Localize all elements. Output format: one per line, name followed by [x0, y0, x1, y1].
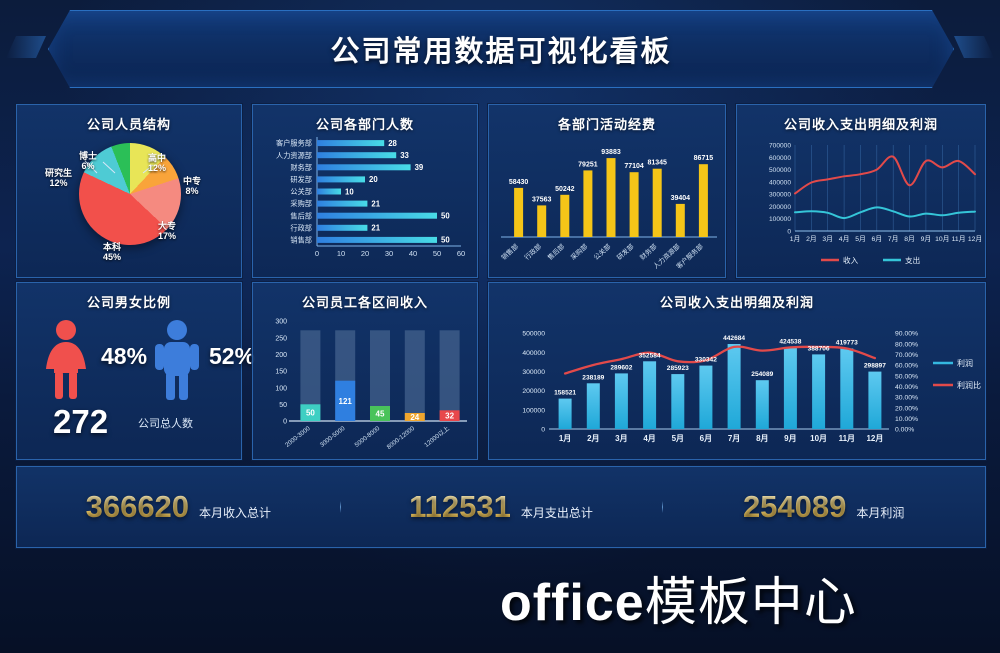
female-icon — [41, 319, 91, 401]
svg-text:0.00%: 0.00% — [895, 427, 914, 434]
pie-slice-label-yanjiusheng: 研究生 12% — [45, 168, 72, 189]
pie-slice-label-dazhuan: 大专 17% — [158, 221, 176, 242]
svg-text:0: 0 — [541, 427, 545, 434]
svg-text:12月: 12月 — [866, 434, 883, 443]
svg-text:6月: 6月 — [872, 235, 883, 243]
svg-text:销售部: 销售部 — [499, 242, 520, 262]
svg-text:客户服务部: 客户服务部 — [276, 139, 312, 148]
kpi-label: 本月支出总计 — [521, 504, 593, 521]
svg-text:12月: 12月 — [968, 235, 982, 243]
svg-text:400000: 400000 — [769, 179, 791, 186]
svg-text:研发部: 研发部 — [290, 175, 312, 184]
svg-text:2月: 2月 — [587, 434, 599, 443]
svg-text:500000: 500000 — [769, 167, 791, 174]
kpi-value: 112531 — [409, 489, 511, 525]
svg-text:5000-8000: 5000-8000 — [354, 425, 382, 449]
svg-text:3月: 3月 — [822, 235, 833, 243]
svg-text:20.00%: 20.00% — [895, 405, 918, 412]
svg-text:10: 10 — [337, 249, 345, 258]
svg-text:254089: 254089 — [751, 371, 773, 378]
pie-slice-label-boshi: 博士 6% — [79, 151, 97, 172]
svg-text:79251: 79251 — [578, 161, 598, 168]
svg-text:100000: 100000 — [522, 407, 545, 414]
combo-bars — [559, 344, 882, 429]
line-series-paths — [795, 156, 975, 218]
svg-text:5月: 5月 — [855, 235, 866, 243]
svg-text:424538: 424538 — [779, 339, 801, 346]
income-expense-line-chart: 0100000200000300000400000500000600000700… — [737, 127, 985, 275]
svg-text:100000: 100000 — [769, 216, 791, 223]
svg-text:93883: 93883 — [601, 149, 621, 156]
svg-text:289602: 289602 — [610, 364, 632, 371]
kpi-summary-strip: 366620 本月收入总计 112531 本月支出总计 254089 本月利润 — [16, 466, 986, 548]
svg-text:81345: 81345 — [647, 160, 667, 167]
svg-text:12000以上: 12000以上 — [423, 424, 451, 449]
svg-text:50: 50 — [306, 409, 315, 418]
pie-leader-lines — [17, 129, 241, 277]
svg-text:50: 50 — [441, 212, 450, 221]
svg-text:4月: 4月 — [643, 434, 655, 443]
svg-text:销售部: 销售部 — [290, 236, 312, 245]
svg-text:4月: 4月 — [839, 235, 850, 243]
svg-text:39404: 39404 — [671, 195, 691, 202]
card-staff-structure: 公司人员结构 高中 12% 中专 8% 大专 17% 本科 — [16, 104, 242, 278]
svg-text:330342: 330342 — [695, 357, 717, 364]
svg-text:3000-5000: 3000-5000 — [319, 425, 347, 449]
svg-text:37563: 37563 — [532, 196, 552, 203]
gender-row: 48% 52% — [17, 319, 241, 403]
svg-text:442684: 442684 — [723, 335, 745, 342]
svg-text:采购部: 采购部 — [290, 199, 312, 208]
svg-text:3月: 3月 — [615, 434, 627, 443]
svg-text:2月: 2月 — [806, 235, 817, 243]
svg-text:700000: 700000 — [769, 143, 791, 150]
card-department-activity-funds: 各部门活动经费 58430375635024279251938837710481… — [488, 104, 726, 278]
svg-text:58430: 58430 — [509, 179, 529, 186]
svg-text:80.00%: 80.00% — [895, 341, 918, 348]
svg-text:行政部: 行政部 — [522, 242, 543, 262]
svg-text:0: 0 — [283, 419, 287, 426]
svg-text:21: 21 — [371, 224, 380, 233]
card-salary-distribution: 公司员工各区间收入 050100150200250300 50121452432… — [252, 282, 478, 460]
svg-text:33: 33 — [400, 151, 409, 160]
combo-category-labels: 1月2月3月4月5月6月7月8月9月10月11月12月 — [559, 434, 883, 443]
svg-text:39: 39 — [415, 163, 424, 172]
fund-category-labels: 销售部行政部售后部采购部公关部研发部财务部人力资源部客户服务部 — [499, 242, 705, 271]
combo-value-labels: 1585212381892896023525842859233303424426… — [554, 335, 886, 397]
combo-secondary-y-ticks: 0.00%10.00%20.00%30.00%40.00%50.00%60.00… — [895, 331, 918, 434]
card-income-expense-line: 公司收入支出明细及利润 0100000200000300000400000500… — [736, 104, 986, 278]
svg-text:6月: 6月 — [700, 434, 712, 443]
pie-chart-area: 高中 12% 中专 8% 大专 17% 本科 45% 研究生 12% 博士 6% — [17, 129, 241, 277]
svg-text:50: 50 — [433, 249, 441, 258]
svg-text:9月: 9月 — [784, 434, 796, 443]
svg-text:利润: 利润 — [957, 358, 973, 368]
salary-bar-chart: 050100150200250300 50121452432 2000-3000… — [253, 307, 477, 459]
svg-text:352584: 352584 — [639, 352, 661, 359]
svg-text:7月: 7月 — [728, 434, 740, 443]
svg-text:250: 250 — [275, 335, 287, 342]
svg-text:11月: 11月 — [952, 235, 966, 243]
svg-text:121: 121 — [339, 397, 353, 406]
svg-text:公关部: 公关部 — [290, 187, 312, 196]
svg-text:419773: 419773 — [836, 339, 858, 346]
svg-text:50: 50 — [279, 402, 287, 409]
svg-text:50242: 50242 — [555, 186, 575, 193]
total-headcount-label: 公司总人数 — [138, 415, 193, 431]
svg-text:5月: 5月 — [672, 434, 684, 443]
svg-text:150: 150 — [275, 369, 287, 376]
svg-text:20: 20 — [361, 249, 369, 258]
dept-category-labels: 客户服务部人力资源部财务部研发部公关部采购部售后部行政部销售部 — [276, 139, 312, 245]
svg-text:40: 40 — [409, 249, 417, 258]
svg-text:21: 21 — [371, 199, 380, 208]
pie-slice-label-benke: 本科 45% — [103, 242, 121, 263]
svg-text:50: 50 — [441, 236, 450, 245]
svg-text:32: 32 — [445, 412, 454, 421]
svg-text:60.00%: 60.00% — [895, 363, 918, 370]
svg-text:40.00%: 40.00% — [895, 384, 918, 391]
svg-text:285923: 285923 — [667, 365, 689, 372]
card-profit-combo: 公司收入支出明细及利润 0100000200000300000400000500… — [488, 282, 986, 460]
svg-text:300000: 300000 — [769, 192, 791, 199]
male-percent: 52% — [209, 343, 255, 370]
svg-text:200000: 200000 — [522, 388, 545, 395]
svg-text:90.00%: 90.00% — [895, 331, 918, 338]
svg-text:售后部: 售后部 — [545, 242, 566, 262]
dashboard-title-banner: 公司常用数据可视化看板 — [48, 10, 954, 88]
line-x-ticks: 1月2月3月4月5月6月7月8月9月10月11月12月 — [790, 235, 982, 243]
male-icon — [153, 319, 201, 401]
kpi-label: 本月收入总计 — [199, 504, 271, 521]
svg-text:86715: 86715 — [694, 155, 714, 162]
kpi-monthly-income: 366620 本月收入总计 — [17, 489, 340, 525]
svg-text:50.00%: 50.00% — [895, 373, 918, 380]
svg-text:9月: 9月 — [921, 235, 932, 243]
svg-text:100: 100 — [275, 385, 287, 392]
kpi-monthly-profit: 254089 本月利润 — [662, 489, 985, 525]
svg-text:400000: 400000 — [522, 350, 545, 357]
svg-text:财务部: 财务部 — [638, 242, 659, 262]
pie-slice-label-zhongzhuan: 中专 8% — [183, 176, 201, 197]
svg-text:20: 20 — [369, 175, 378, 184]
svg-text:24: 24 — [410, 413, 419, 422]
svg-text:1月: 1月 — [559, 434, 571, 443]
svg-text:298897: 298897 — [864, 363, 886, 370]
svg-text:77104: 77104 — [624, 163, 644, 170]
svg-text:0: 0 — [787, 229, 791, 236]
svg-text:2000-3000: 2000-3000 — [284, 425, 312, 449]
svg-text:支出: 支出 — [905, 255, 920, 265]
kpi-value: 366620 — [86, 489, 189, 525]
female-percent: 48% — [101, 343, 147, 370]
page-title: 公司常用数据可视化看板 — [330, 28, 671, 70]
svg-text:收入: 收入 — [843, 255, 859, 265]
watermark: office模板中心 — [500, 560, 857, 635]
svg-text:45: 45 — [376, 410, 385, 419]
svg-text:0: 0 — [315, 249, 319, 258]
profit-combo-chart: 0100000200000300000400000500000 0.00%10.… — [489, 307, 985, 459]
svg-text:8月: 8月 — [756, 434, 768, 443]
svg-text:300000: 300000 — [522, 369, 545, 376]
svg-text:10: 10 — [345, 187, 354, 196]
svg-text:7月: 7月 — [888, 235, 899, 243]
svg-text:财务部: 财务部 — [290, 163, 312, 172]
line-legend: 收入支出 — [821, 255, 920, 265]
pie-slice-label-gaozhong: 高中 12% — [148, 153, 166, 174]
svg-text:200: 200 — [275, 352, 287, 359]
svg-text:11月: 11月 — [839, 434, 855, 443]
kpi-label: 本月利润 — [856, 504, 904, 521]
svg-text:研发部: 研发部 — [615, 242, 636, 262]
svg-text:60: 60 — [457, 249, 465, 258]
kpi-value: 254089 — [743, 489, 846, 525]
combo-legend: 利润利润比 — [933, 358, 981, 390]
svg-text:70.00%: 70.00% — [895, 352, 918, 359]
svg-text:30.00%: 30.00% — [895, 395, 918, 402]
svg-text:600000: 600000 — [769, 155, 791, 162]
dept-bar-chart: 客户服务部人力资源部财务部研发部公关部采购部售后部行政部销售部 28333920… — [253, 129, 477, 277]
svg-text:人力资源部: 人力资源部 — [276, 151, 312, 160]
watermark-latin: office — [500, 574, 645, 632]
svg-text:8000-12000: 8000-12000 — [386, 425, 417, 451]
svg-text:行政部: 行政部 — [290, 223, 312, 232]
kpi-inner: 366620 本月收入总计 112531 本月支出总计 254089 本月利润 — [17, 467, 985, 547]
svg-text:售后部: 售后部 — [290, 211, 312, 220]
combo-y-ticks: 0100000200000300000400000500000 — [522, 331, 545, 434]
kpi-monthly-expense: 112531 本月支出总计 — [340, 489, 663, 525]
svg-text:238189: 238189 — [582, 374, 604, 381]
banner-accent-left — [6, 36, 46, 58]
svg-text:300: 300 — [275, 319, 287, 326]
fund-bar-chart: 5843037563502427925193883771048134539404… — [489, 129, 725, 277]
svg-text:500000: 500000 — [522, 331, 545, 338]
banner-accent-right — [954, 36, 994, 58]
svg-text:1月: 1月 — [790, 235, 801, 243]
line-y-ticks: 0100000200000300000400000500000600000700… — [769, 143, 791, 236]
watermark-cjk: 模板中心 — [645, 573, 857, 633]
svg-text:10月: 10月 — [935, 235, 949, 243]
svg-text:388706: 388706 — [808, 345, 830, 352]
card-title-gender-ratio: 公司男女比例 — [17, 283, 241, 311]
dept-x-ticks: 0102030405060 — [315, 249, 465, 258]
svg-text:200000: 200000 — [769, 204, 791, 211]
line-gridlines — [795, 145, 975, 231]
svg-text:10.00%: 10.00% — [895, 416, 918, 423]
dashboard-root: 公司常用数据可视化看板 公司人员结构 高中 12% 中专 8% 大专 17% — [0, 0, 1000, 653]
svg-text:采购部: 采购部 — [569, 242, 590, 262]
card-department-headcount: 公司各部门人数 客户服务部人力资源部财务部研发部公关部采购部售后部行政部销售部 … — [252, 104, 478, 278]
svg-text:10月: 10月 — [810, 434, 827, 443]
salary-category-labels: 2000-30003000-50005000-80008000-12000120… — [284, 424, 451, 451]
total-headcount-value: 272 — [53, 403, 108, 441]
svg-text:28: 28 — [388, 139, 397, 148]
card-gender-ratio: 公司男女比例 48% 52% 272 公司总人数 — [16, 282, 242, 460]
salary-y-ticks: 050100150200250300 — [275, 319, 287, 426]
svg-text:158521: 158521 — [554, 390, 576, 397]
svg-text:公关部: 公关部 — [592, 242, 613, 262]
svg-text:8月: 8月 — [904, 235, 915, 243]
svg-text:30: 30 — [385, 249, 393, 258]
svg-text:利润比: 利润比 — [957, 380, 981, 390]
